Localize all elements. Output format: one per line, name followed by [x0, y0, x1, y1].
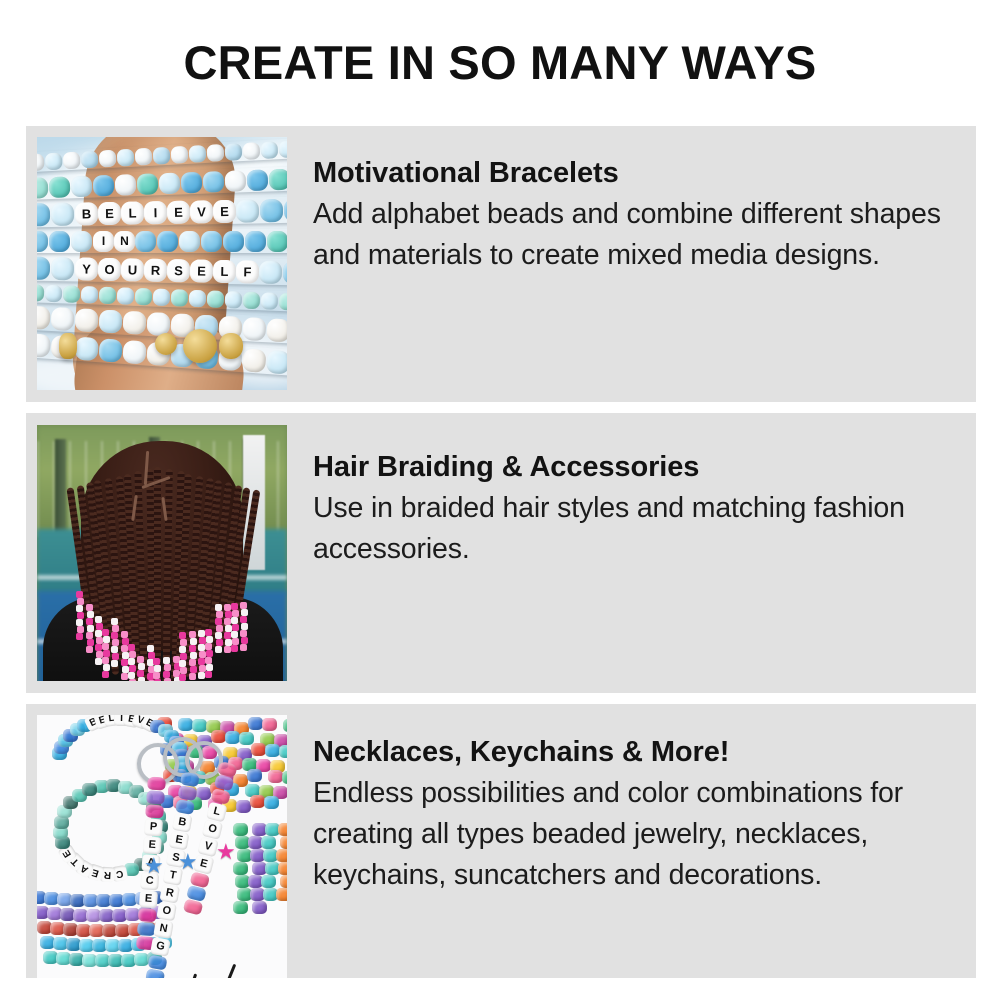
hair-bead: [216, 611, 223, 618]
letter-bead: E: [167, 200, 190, 223]
bead: [201, 231, 222, 252]
bead: [37, 203, 50, 226]
bead: [236, 199, 259, 222]
panel-text-column: Motivational Bracelets Add alphabet bead…: [287, 126, 976, 276]
hair-bead: [111, 618, 118, 625]
pony-bead: [82, 783, 97, 796]
promo-infographic: CREATE IN SO MANY WAYS BELIEVEINYOURSELF…: [0, 0, 1000, 1000]
panel-heading: Necklaces, Keychains & More!: [313, 734, 976, 770]
letter-bead: N: [114, 231, 135, 252]
bead: [242, 142, 260, 160]
hair-bead: [205, 643, 212, 650]
bead: [37, 256, 50, 279]
hair-bead: [128, 672, 135, 679]
bracelet-row: IN: [37, 229, 287, 253]
bead: [98, 309, 122, 333]
hair-bead: [147, 645, 154, 652]
hair-bead: [190, 666, 197, 673]
bead: [81, 286, 99, 304]
hair-bead: [240, 644, 247, 651]
charm: [183, 329, 217, 363]
hair-bead: [180, 667, 187, 674]
panel-body: Endless possibilities and color combinat…: [313, 773, 953, 896]
bead: [115, 174, 137, 196]
bead: [45, 284, 63, 302]
pony-bead: [252, 901, 267, 914]
bead: [157, 231, 178, 252]
bead: [117, 148, 135, 166]
hair-bead: [77, 598, 84, 605]
bead: [279, 292, 287, 310]
hair-bead: [154, 679, 161, 681]
hair-bead: [137, 670, 144, 677]
hair-bead: [163, 671, 170, 678]
bead: [225, 170, 247, 192]
hair-bead: [111, 646, 118, 653]
hair-bead: [121, 659, 128, 666]
bead: [135, 147, 153, 165]
hair-bead: [240, 602, 247, 609]
hair-bead: [189, 673, 196, 680]
panel-text-column: Necklaces, Keychains & More! Endless pos…: [287, 704, 976, 896]
bead: [207, 290, 225, 308]
hair-bead: [87, 611, 94, 618]
hair-bead: [179, 674, 186, 681]
hair-bead: [241, 609, 248, 616]
hair-bead: [189, 645, 196, 652]
hair-bead: [102, 629, 109, 636]
bead: [37, 153, 45, 171]
hair-bead: [153, 658, 160, 665]
letter-bead: U: [121, 258, 144, 281]
pony-bead: [264, 796, 279, 809]
hair-bead: [231, 645, 238, 652]
pony-bead: [278, 823, 287, 836]
pony-bead: [280, 836, 287, 849]
bead: [37, 231, 48, 252]
hair-bead: [163, 657, 170, 664]
pony-bead: [248, 717, 263, 730]
pony-bead: [239, 732, 254, 745]
bead: [269, 168, 287, 190]
hair-bead: [205, 629, 212, 636]
bead: [51, 202, 74, 225]
hair-bead: [180, 639, 187, 646]
charm: [219, 333, 243, 359]
bead: [49, 176, 71, 198]
pony-bead: [278, 862, 287, 875]
hair-bead: [179, 646, 186, 653]
hair-bead: [86, 604, 93, 611]
pony-bead: [283, 719, 287, 732]
hair-bead: [137, 656, 144, 663]
bead: [261, 292, 279, 310]
hair-bead: [164, 678, 171, 681]
pony-bead: [247, 769, 262, 782]
hair-bead: [215, 632, 222, 639]
bracelet-row: YOURSELF: [37, 255, 287, 286]
bead: [203, 171, 225, 193]
panel-body: Use in braided hair styles and matching …: [313, 488, 953, 570]
bead: [135, 231, 156, 252]
letter-bead: V: [190, 200, 213, 223]
pony-bead: [225, 731, 240, 744]
bead: [63, 285, 81, 303]
bead: [224, 143, 242, 161]
hair-bead: [112, 639, 119, 646]
hair-bead: [206, 650, 213, 657]
hair-bead: [121, 645, 128, 652]
hair-bead: [76, 591, 83, 598]
hair-bead: [77, 626, 84, 633]
bead: [225, 291, 243, 309]
letter-bead: I: [144, 201, 167, 224]
hair-braiding-photo: [37, 425, 287, 681]
hair-bead: [241, 637, 248, 644]
cord: [184, 973, 197, 978]
hair-bead: [112, 653, 119, 660]
page-title: CREATE IN SO MANY WAYS: [0, 36, 1000, 90]
bead: [51, 306, 75, 330]
bead: [267, 231, 287, 252]
letter-bead: E: [98, 201, 121, 224]
pony-bead: [262, 718, 277, 731]
bead: [242, 316, 266, 340]
bead: [207, 144, 225, 162]
star-bead: ★: [144, 855, 164, 877]
hair-bead: [189, 631, 196, 638]
hair-bead: [112, 625, 119, 632]
letter-bead: R: [159, 884, 180, 904]
pony-bead: [211, 730, 226, 743]
letter-bead: O: [156, 901, 177, 921]
bead: [181, 171, 203, 193]
hair-bead: [180, 653, 187, 660]
hair-bead: [216, 639, 223, 646]
hair-bead: [76, 619, 83, 626]
bead: [45, 152, 63, 170]
hair-bead: [231, 603, 238, 610]
hair-bead: [129, 651, 136, 658]
cord: [221, 964, 237, 978]
hair-bead: [87, 625, 94, 632]
bead: [245, 231, 266, 252]
hair-bead: [128, 658, 135, 665]
pony-bead: [192, 719, 207, 732]
letter-bead: E: [190, 259, 213, 282]
hair-bead: [154, 665, 161, 672]
hair-bead: [189, 659, 196, 666]
bead: [223, 231, 244, 252]
necklaces-keychains-photo: BELIEVECREATEPEACE★BESTRONG★LOVE★: [37, 715, 287, 978]
letter-bead: P: [144, 818, 163, 836]
hair-bead: [111, 660, 118, 667]
hair-bead: [216, 625, 223, 632]
hair-bead: [138, 663, 145, 670]
hair-bead: [87, 639, 94, 646]
bead: [247, 169, 269, 191]
bead: [159, 172, 181, 194]
fence-post: [55, 439, 66, 537]
hair-bead: [111, 632, 118, 639]
bead: [283, 261, 287, 284]
bead: [99, 149, 117, 167]
bead: [51, 256, 74, 279]
bead: [189, 289, 207, 307]
letter-bead: N: [153, 919, 174, 939]
bead: [117, 287, 135, 305]
star-bead: ★: [216, 841, 236, 863]
bead: [284, 198, 287, 221]
pony-bead: [233, 823, 248, 836]
bead: [189, 144, 207, 162]
letter-bead: S: [167, 259, 190, 282]
bead: [266, 350, 287, 375]
letter-bead: E: [143, 836, 162, 854]
hair-bead: [205, 671, 212, 678]
bracelet-row: BELIEVE: [37, 197, 287, 228]
pony-bead: [236, 800, 251, 813]
hair-bead: [215, 604, 222, 611]
hair-bead: [95, 616, 102, 623]
hair-bead: [138, 677, 145, 681]
bead: [63, 151, 81, 169]
hair-bead: [205, 657, 212, 664]
hair-bead: [240, 630, 247, 637]
hair-bead: [103, 664, 110, 671]
panel-text-column: Hair Braiding & Accessories Use in braid…: [287, 413, 976, 570]
hair-bead: [103, 650, 110, 657]
bead: [153, 146, 171, 164]
hair-bead: [232, 610, 239, 617]
motivational-bracelets-photo: BELIEVEINYOURSELF: [37, 137, 287, 390]
hair-bead: [231, 617, 238, 624]
letter-bead: E: [139, 890, 158, 908]
bead: [242, 348, 267, 373]
hair-bead: [231, 631, 238, 638]
hair-bead: [76, 605, 83, 612]
letter-bead: L: [213, 259, 236, 282]
hair-bead: [153, 672, 160, 679]
bead: [93, 174, 115, 196]
bead: [99, 286, 117, 304]
hair-bead: [241, 623, 248, 630]
letter-bead: E: [169, 831, 190, 851]
charm: [59, 333, 77, 359]
bead: [137, 173, 159, 195]
bead: [135, 287, 153, 305]
bead: [75, 308, 99, 332]
pony-bead: [279, 745, 287, 758]
bead: [74, 336, 99, 361]
hair-bead: [86, 632, 93, 639]
pony-bead: [276, 849, 287, 862]
braid: [154, 467, 161, 681]
pony-bead: [268, 770, 283, 783]
panel-heading: Hair Braiding & Accessories: [313, 449, 976, 485]
pony-bead: [280, 875, 287, 888]
hair-bead: [232, 624, 239, 631]
bead: [37, 305, 51, 329]
hair-bead: [164, 664, 171, 671]
bead: [49, 231, 70, 252]
bead: [179, 231, 200, 252]
pony-bead: [282, 771, 287, 784]
bead: [37, 284, 44, 302]
bead: [243, 291, 261, 309]
bead: [171, 289, 189, 307]
bead: [266, 318, 287, 342]
hair-bead: [102, 643, 109, 650]
bead: [122, 339, 147, 364]
letter-bead: Y: [75, 257, 98, 280]
hair-bead: [129, 665, 136, 672]
hair-bead: [206, 664, 213, 671]
hair-bead: [215, 618, 222, 625]
hair-bead: [102, 671, 109, 678]
bead: [37, 333, 51, 358]
bead: [260, 198, 283, 221]
pony-bead: [276, 888, 287, 901]
letter-bead: B: [172, 813, 193, 833]
feature-panel-motivational-bracelets: BELIEVEINYOURSELF Motivational Bracelets…: [26, 126, 976, 402]
hair-bead: [86, 646, 93, 653]
bead: [153, 288, 171, 306]
letter-bead: I: [93, 231, 114, 252]
letter-bead: B: [75, 202, 98, 225]
bead: [171, 145, 189, 163]
pony-bead: [250, 795, 265, 808]
hair-bead: [215, 646, 222, 653]
hair-bead: [129, 679, 136, 681]
hair-bead: [179, 632, 186, 639]
pony-bead: [261, 836, 276, 849]
bead: [122, 310, 146, 334]
bead: [260, 141, 278, 159]
feature-panel-necklaces-keychains: BELIEVECREATEPEACE★BESTRONG★LOVE★ Neckla…: [26, 704, 976, 978]
pony-bead: [261, 875, 276, 888]
hair-bead: [190, 652, 197, 659]
hair-bead: [121, 631, 128, 638]
hair-bead: [179, 660, 186, 667]
hair-bead: [121, 673, 128, 680]
hair-bead: [86, 618, 93, 625]
hair-bead: [240, 616, 247, 623]
pony-bead: [233, 901, 248, 914]
pony-bead: [146, 790, 165, 804]
hair-bead: [190, 638, 197, 645]
letter-bead: L: [121, 201, 144, 224]
pony-bead: [265, 744, 280, 757]
letter-bead: R: [144, 258, 167, 281]
pony-bead: [251, 743, 266, 756]
bead: [98, 338, 123, 363]
letter-bead: E: [213, 199, 236, 222]
hair-bead: [77, 612, 84, 619]
feature-panel-hair-braiding: Hair Braiding & Accessories Use in braid…: [26, 413, 976, 693]
hair-bead: [76, 633, 83, 640]
pony-bead: [178, 718, 193, 731]
charm: [155, 333, 177, 355]
hair-bead: [102, 657, 109, 664]
pony-bead: [145, 804, 164, 818]
bead: [71, 175, 93, 197]
letter-bead: F: [236, 260, 259, 283]
letter-bead: O: [98, 257, 121, 280]
hair-bead: [232, 638, 239, 645]
bead: [146, 311, 170, 335]
letter-bead: G: [150, 937, 171, 957]
panel-heading: Motivational Bracelets: [313, 155, 976, 191]
bead: [259, 260, 282, 283]
hair-bead: [128, 644, 135, 651]
pony-bead: [147, 776, 166, 790]
bead: [81, 150, 99, 168]
panel-body: Add alphabet beads and combine different…: [313, 194, 953, 276]
hair-bead: [206, 636, 213, 643]
bead: [37, 177, 48, 199]
bead: [71, 231, 92, 252]
hair-bead: [103, 636, 110, 643]
bead: [278, 140, 287, 158]
